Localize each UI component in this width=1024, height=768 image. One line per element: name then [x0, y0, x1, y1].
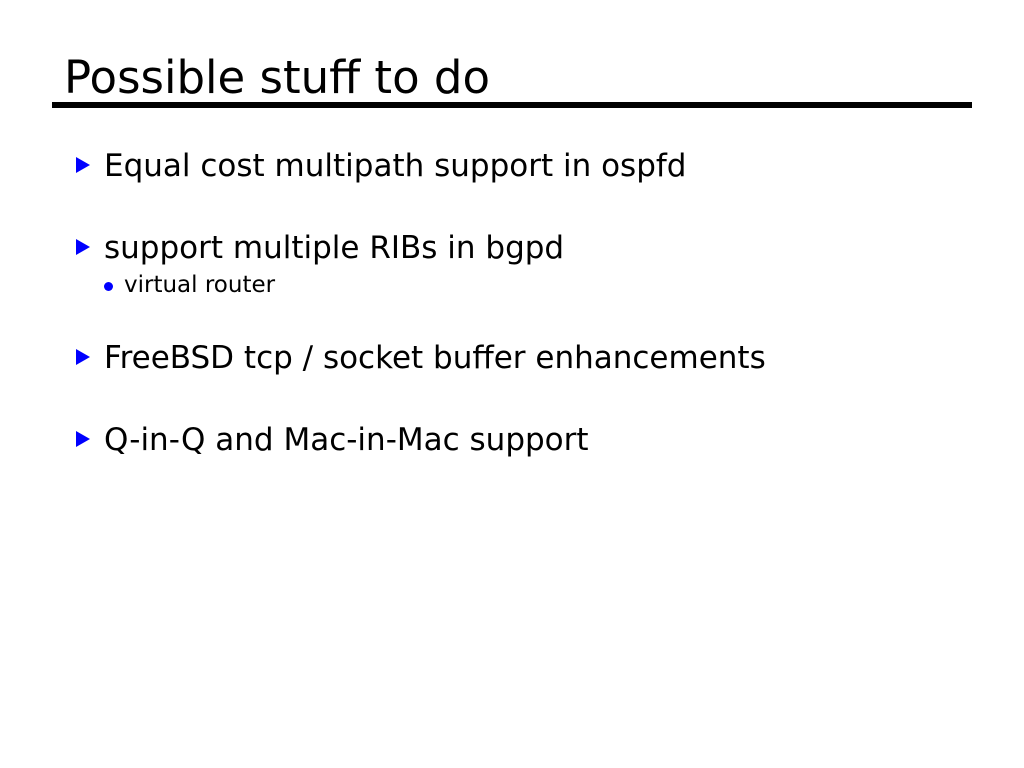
bullet-text: Equal cost multipath support in ospfd — [104, 146, 686, 186]
list-item: Q-in-Q and Mac-in-Mac support — [76, 420, 976, 460]
presentation-slide: Possible stuff to do Equal cost multipat… — [0, 0, 1024, 768]
title-underline-rule — [52, 102, 972, 108]
bullet-text: FreeBSD tcp / socket buffer enhancements — [104, 338, 766, 378]
bullet-text: Q-in-Q and Mac-in-Mac support — [104, 420, 589, 460]
triangle-bullet-icon — [76, 349, 90, 365]
triangle-bullet-icon — [76, 431, 90, 447]
bullet-text: support multiple RIBs in bgpd — [104, 228, 564, 268]
list-item: Equal cost multipath support in ospfd — [76, 146, 976, 186]
triangle-bullet-icon — [76, 157, 90, 173]
dot-bullet-icon — [104, 282, 113, 291]
sub-bullet-text: virtual router — [124, 270, 275, 300]
triangle-bullet-icon — [76, 239, 90, 255]
list-item: support multiple RIBs in bgpd — [76, 228, 976, 268]
sub-list-item: virtual router — [104, 270, 976, 300]
list-item: FreeBSD tcp / socket buffer enhancements — [76, 338, 976, 378]
bullet-list: Equal cost multipath support in ospfd su… — [76, 146, 976, 502]
slide-title: Possible stuff to do — [64, 52, 490, 104]
